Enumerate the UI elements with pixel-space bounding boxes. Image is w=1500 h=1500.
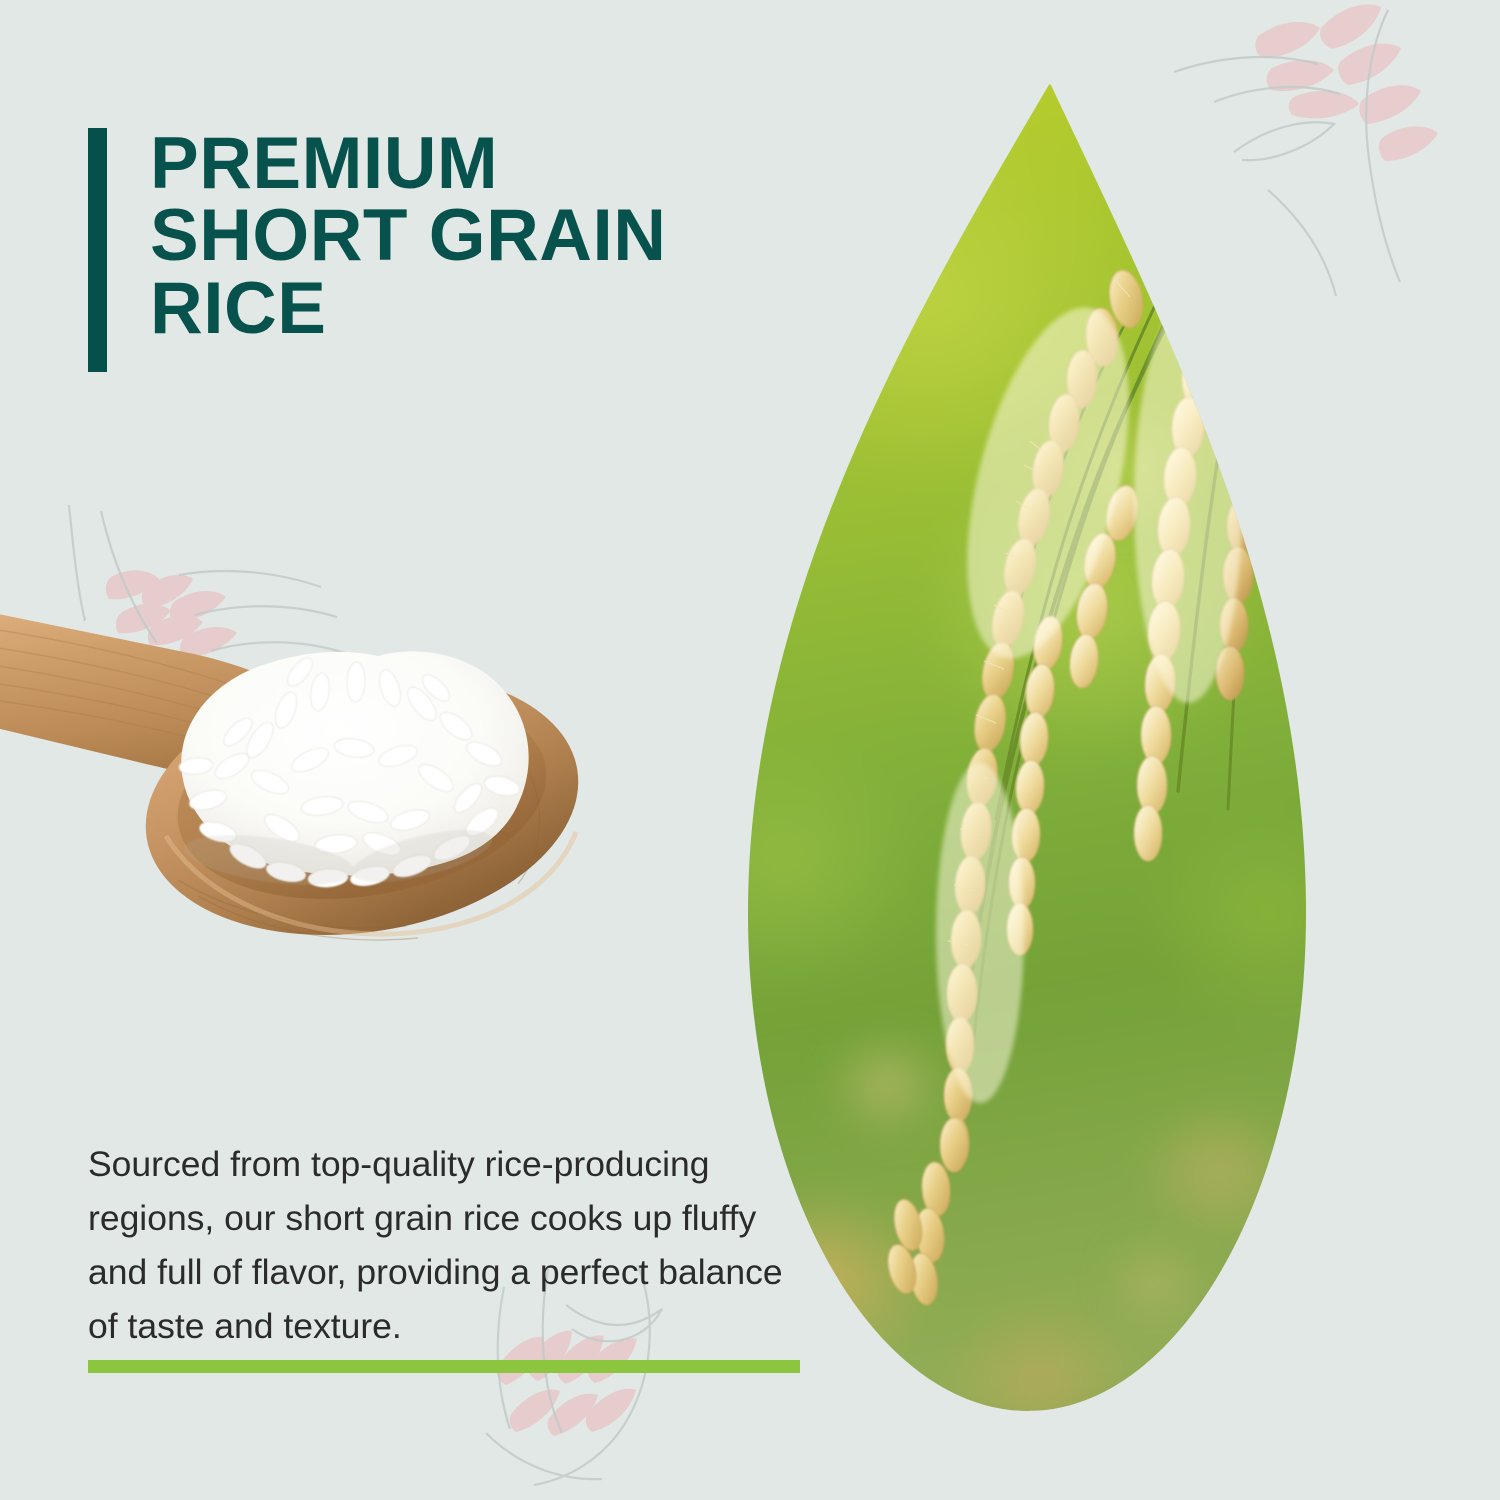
poster-canvas: PREMIUM SHORT GRAIN RICE: [0, 0, 1500, 1500]
headline-accent-bar: [88, 128, 107, 372]
green-divider-rule: [88, 1360, 800, 1373]
hero-photo-leaf: [748, 83, 1306, 1411]
rice-field-photo: [748, 83, 1306, 1411]
wheat-watermark-top-right: [1150, 0, 1500, 320]
headline-block: PREMIUM SHORT GRAIN RICE: [88, 128, 667, 372]
rice-panicle-illustration: [748, 83, 1306, 1411]
spoon-with-rice-photo: [0, 560, 670, 980]
description-paragraph: Sourced from top-quality rice-producing …: [88, 1138, 818, 1354]
page-title: PREMIUM SHORT GRAIN RICE: [150, 128, 667, 345]
